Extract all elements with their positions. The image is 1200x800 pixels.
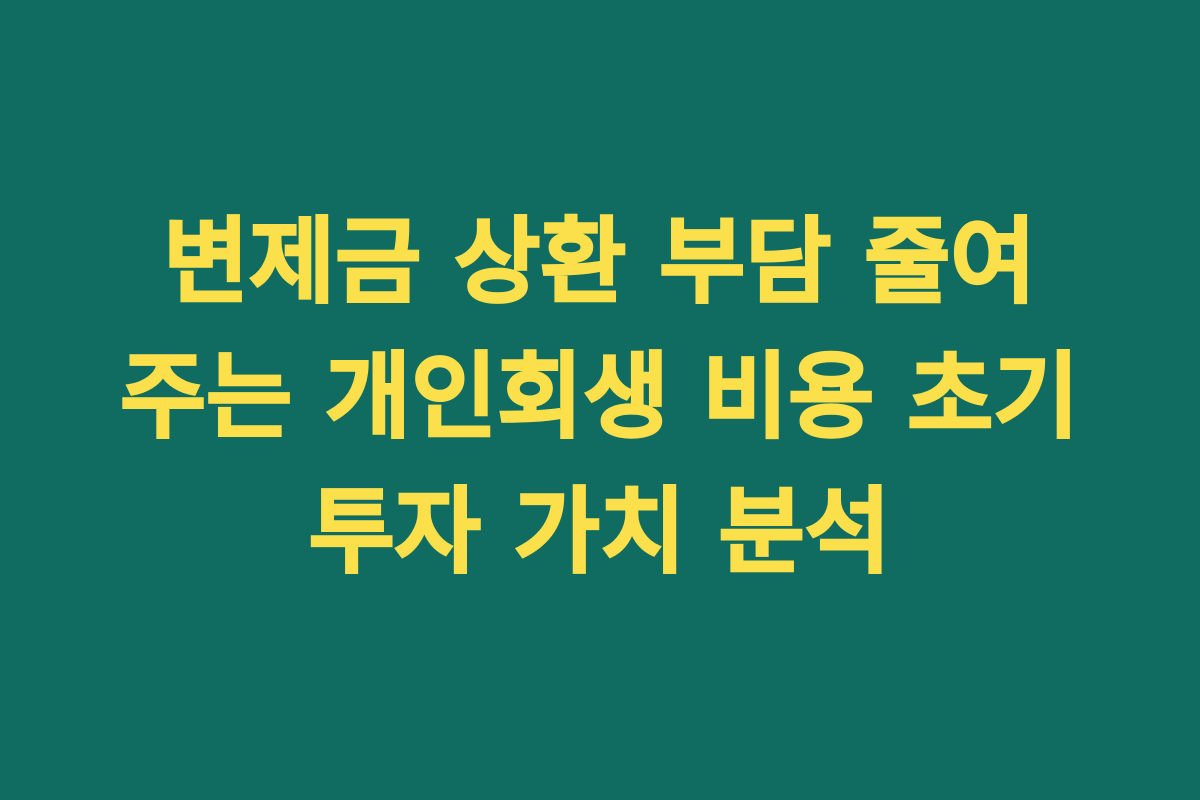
headline-line-2: 주는 개인회생 비용 초기: [50, 330, 1150, 465]
thumbnail-card: 변제금 상환 부담 줄여 주는 개인회생 비용 초기 투자 가치 분석: [0, 0, 1200, 800]
headline-block: 변제금 상환 부담 줄여 주는 개인회생 비용 초기 투자 가치 분석: [50, 195, 1150, 600]
headline-line-3: 투자 가치 분석: [50, 465, 1150, 600]
headline-line-1: 변제금 상환 부담 줄여: [50, 195, 1150, 330]
